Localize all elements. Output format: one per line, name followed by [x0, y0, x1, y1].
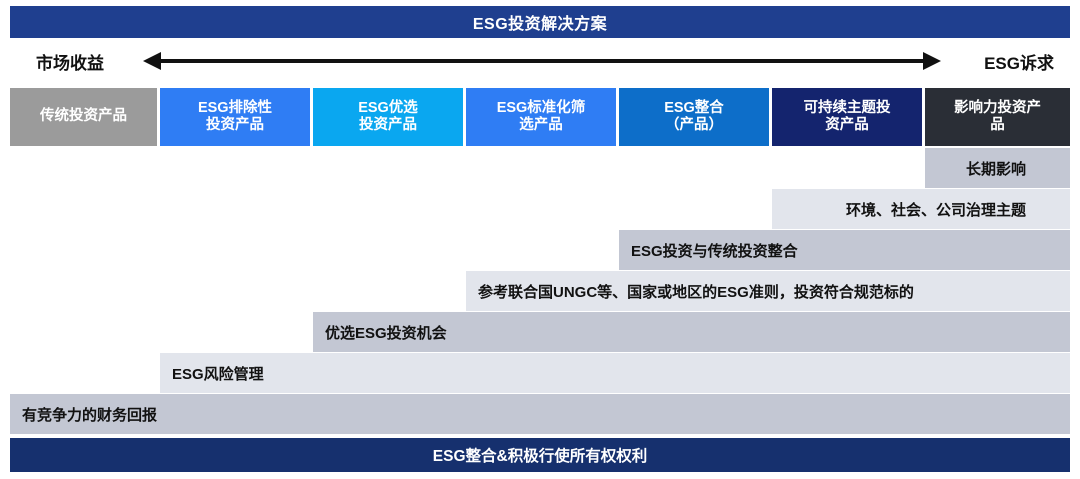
capability-row[interactable]: 有竞争力的财务回报: [10, 394, 1070, 434]
esg-investment-solutions-infographic: ESG投资解决方案 市场收益 ESG诉求 传统投资产品ESG排除性投资产品ESG…: [0, 0, 1080, 479]
product-category-header-3[interactable]: ESG优选投资产品: [313, 88, 463, 146]
capability-row-label: 参考联合国UNGC等、国家或地区的ESG准则，投资符合规范标的: [478, 281, 914, 302]
product-category-header-7[interactable]: 影响力投资产品: [925, 88, 1070, 146]
capability-row-label: 长期影响: [966, 158, 1026, 179]
product-category-label: ESG标准化筛选产品: [497, 100, 586, 134]
product-category-header-2[interactable]: ESG排除性投资产品: [160, 88, 310, 146]
product-category-header-1[interactable]: 传统投资产品: [10, 88, 157, 146]
capability-row[interactable]: 参考联合国UNGC等、国家或地区的ESG准则，投资符合规范标的: [466, 271, 1070, 311]
capability-row[interactable]: ESG风险管理: [160, 353, 1070, 393]
product-category-label: 影响力投资产品: [954, 100, 1041, 134]
spectrum-axis: 市场收益 ESG诉求: [0, 42, 1080, 80]
product-category-label: ESG整合（产品）: [664, 100, 724, 134]
product-category-label: 传统投资产品: [40, 108, 127, 125]
capability-row-label: 优选ESG投资机会: [325, 322, 447, 343]
footer-bar: ESG整合&积极行使所有权权利: [10, 438, 1070, 472]
product-category-label: ESG排除性投资产品: [198, 100, 272, 134]
product-category-headers: 传统投资产品ESG排除性投资产品ESG优选投资产品ESG标准化筛选产品ESG整合…: [0, 88, 1080, 146]
axis-label-right: ESG诉求: [984, 42, 1054, 80]
capability-row-label: ESG风险管理: [172, 363, 264, 384]
product-category-header-5[interactable]: ESG整合（产品）: [619, 88, 769, 146]
product-category-label: 可持续主题投资产品: [804, 100, 891, 134]
capability-row-label: 环境、社会、公司治理主题: [846, 199, 1026, 220]
product-category-header-6[interactable]: 可持续主题投资产品: [772, 88, 922, 146]
product-category-header-4[interactable]: ESG标准化筛选产品: [466, 88, 616, 146]
capability-row[interactable]: 长期影响: [925, 148, 1070, 188]
capability-row-label: ESG投资与传统投资整合: [631, 240, 798, 261]
capability-row-label: 有竞争力的财务回报: [22, 404, 157, 425]
capability-row[interactable]: ESG投资与传统投资整合: [619, 230, 1070, 270]
page-title: ESG投资解决方案: [10, 6, 1070, 38]
capability-row[interactable]: 优选ESG投资机会: [313, 312, 1070, 352]
axis-label-left: 市场收益: [36, 42, 104, 80]
capability-row[interactable]: 环境、社会、公司治理主题: [772, 189, 1070, 229]
capability-staircase: 长期影响环境、社会、公司治理主题ESG投资与传统投资整合参考联合国UNGC等、国…: [0, 148, 1080, 436]
product-category-label: ESG优选投资产品: [358, 100, 418, 134]
double-headed-arrow-icon: [160, 59, 924, 63]
